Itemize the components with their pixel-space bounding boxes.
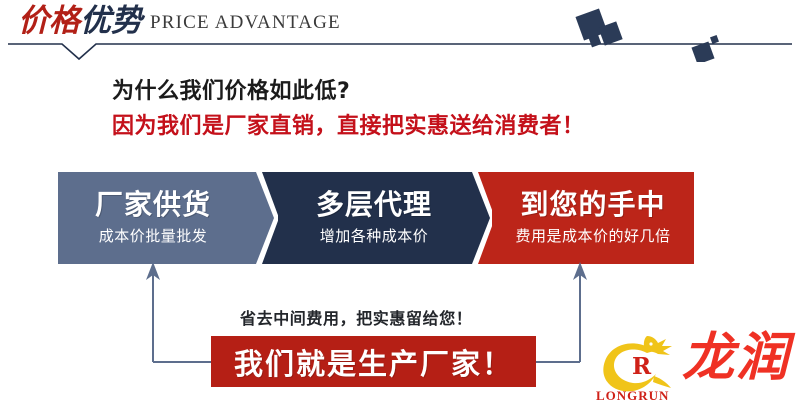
- bottom-caption: 省去中间费用，把实惠留给您！: [240, 305, 472, 329]
- flow-step-1-title: 厂家供货: [95, 190, 211, 220]
- price-advantage-infographic: 价格优势PRICE ADVANTAGE 为什么我们价格如此低? 因为我们是厂家直…: [0, 0, 800, 419]
- header-diamond-decoration: [565, 6, 745, 62]
- logo-latin-name: LONGRUN: [596, 388, 669, 403]
- page-title: 价格优势PRICE ADVANTAGE: [18, 6, 341, 37]
- page-title-cn-secondary: 优势: [80, 3, 142, 39]
- flow-step-customer: 到您的手中 费用是成本价的好几倍: [492, 172, 694, 264]
- flow-step-3-subtitle: 费用是成本价的好几倍: [515, 225, 670, 246]
- bottom-banner-text: 我们就是生产厂家！: [234, 341, 513, 383]
- page-title-cn-primary: 价格: [18, 3, 80, 39]
- flow-step-2-title: 多层代理: [316, 190, 432, 220]
- chevron-right-icon-2: [462, 172, 494, 264]
- bottom-banner: 我们就是生产厂家！: [211, 336, 536, 387]
- flow-step-agents: 多层代理 增加各种成本价: [278, 172, 470, 264]
- flow-step-3-title: 到您的手中: [520, 190, 665, 220]
- dragon-tail: [653, 376, 671, 388]
- flow-step-manufacturer: 厂家供货 成本价批量批发: [58, 172, 248, 264]
- chevron-right-icon-1: [246, 172, 278, 264]
- page-title-en: PRICE ADVANTAGE: [150, 12, 341, 33]
- flow-step-1-subtitle: 成本价批量批发: [99, 225, 208, 246]
- diamond-lower-small-icon: [710, 35, 719, 44]
- headline-question: 为什么我们价格如此低?: [112, 73, 350, 105]
- dragon-eye: [649, 342, 652, 345]
- logo-letter-r: R: [632, 353, 652, 380]
- headline-answer: 因为我们是厂家直销，直接把实惠送给消费者！: [112, 108, 585, 140]
- logo-wordmark-cn: 龙润: [682, 332, 790, 384]
- brand-logo: R LONGRUN 龙润: [592, 328, 797, 412]
- flow-step-2-subtitle: 增加各种成本价: [320, 225, 429, 246]
- diamond-lower-medium-icon: [691, 41, 714, 62]
- dragon-c-mark-icon: R LONGRUN: [592, 330, 678, 404]
